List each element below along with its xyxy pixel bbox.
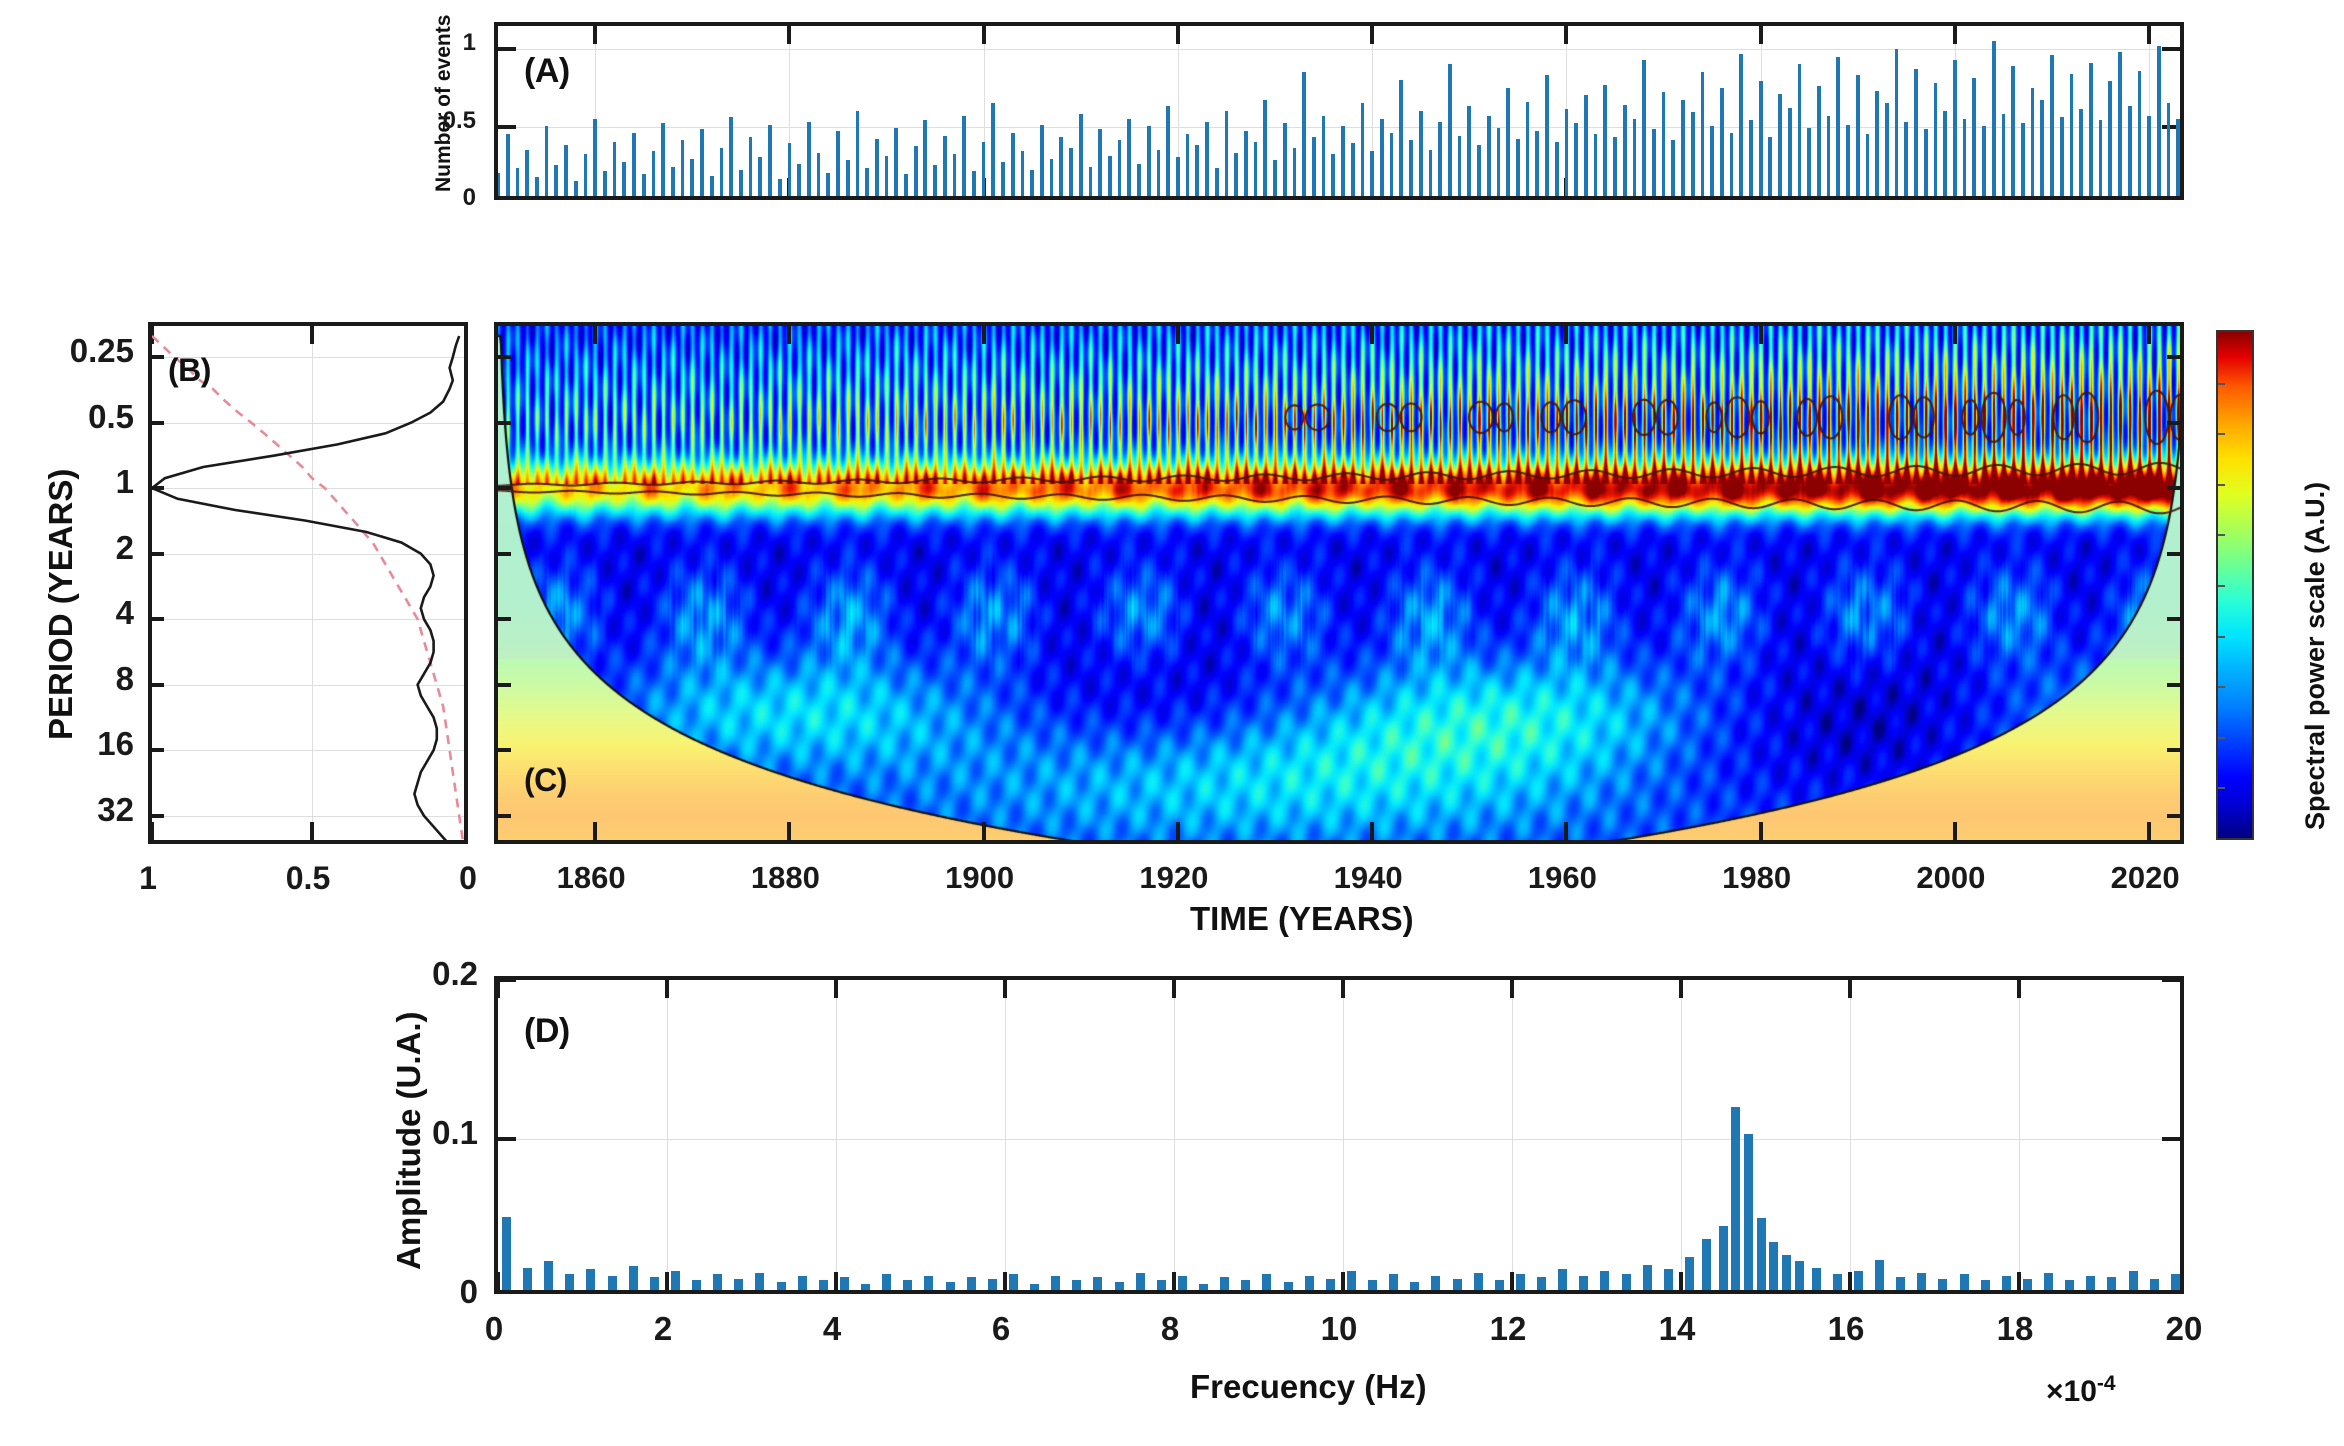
panel-a-bar	[1710, 126, 1714, 196]
panel-a-bar	[807, 122, 811, 196]
panel-a-bar	[1399, 80, 1403, 196]
panel-a-bar	[1312, 137, 1316, 196]
panel-d-bar	[1719, 1226, 1728, 1290]
panel-d-bar	[1326, 1279, 1335, 1290]
panel-a-bar	[1361, 103, 1365, 196]
panel-d-gridline	[1681, 980, 1682, 1290]
panel-a-bar	[1701, 72, 1705, 196]
panel-a-bar	[1652, 129, 1656, 196]
panel-a-bar	[1497, 128, 1501, 196]
panel-d-bar	[2171, 1274, 2180, 1290]
panel-d-ytick-label: 0.2	[432, 955, 478, 993]
panel-a-bar	[1836, 57, 1840, 196]
panel-d-tick-bottom	[2017, 1272, 2021, 1290]
panel-d-bar	[1136, 1273, 1145, 1290]
panel-a-bar	[1972, 78, 1976, 196]
panel-a-bar	[817, 153, 821, 196]
panel-a-bar	[613, 142, 617, 196]
panel-d-bar	[2044, 1273, 2053, 1290]
panel-a-bar	[1555, 142, 1559, 196]
panel-b-spectrum-line	[152, 336, 459, 840]
panel-c-tick-left	[498, 748, 511, 752]
panel-d-bar	[2023, 1279, 2032, 1290]
panel-a-tick-top	[1759, 26, 1763, 44]
panel-c-tick-top	[787, 326, 791, 344]
panel-c-tick-top	[1953, 326, 1957, 344]
panel-a-bar	[778, 179, 782, 196]
panel-a-bar	[1662, 92, 1666, 196]
panel-a-bar	[1603, 85, 1607, 196]
panel-c-xlabel: TIME (YEARS)	[1190, 900, 1414, 938]
panel-a-ytick-label: 1	[463, 29, 476, 57]
panel-c-xtick-label: 1880	[751, 860, 820, 896]
panel-a-bar	[1856, 75, 1860, 196]
exponent-power: -4	[2097, 1372, 2116, 1395]
panel-d-bar	[1664, 1269, 1673, 1290]
panel-b-plot-area	[152, 326, 464, 840]
panel-c-tick-bottom	[593, 822, 597, 840]
panel-d-bar	[2129, 1271, 2138, 1290]
panel-d-bar	[1769, 1242, 1778, 1290]
panel-a-bar	[1409, 140, 1413, 196]
panel-d-tick-top	[1848, 980, 1852, 998]
panel-a-bar	[1720, 88, 1724, 196]
panel-a-bar	[710, 176, 714, 196]
panel-b-ylabel: PERIOD (YEARS)	[42, 469, 80, 740]
panel-d-xtick-label: 10	[1321, 1310, 1358, 1348]
panel-d-tick-bottom	[834, 1272, 838, 1290]
panel-a-bar	[1788, 108, 1792, 196]
panel-c-label: (C)	[524, 762, 567, 799]
panel-a-tick-top	[2147, 26, 2151, 44]
panel-a-bar	[661, 123, 665, 196]
panel-d-xtick-label: 4	[823, 1310, 841, 1348]
panel-d-bar	[2065, 1280, 2074, 1290]
panel-a-tick-top	[1176, 26, 1180, 44]
panel-c-xtick-label: 1900	[945, 860, 1014, 896]
panel-a-bar	[982, 142, 986, 196]
panel-a-bar	[1768, 137, 1772, 196]
panel-b-ytick-label: 1	[116, 463, 134, 501]
panel-a-ytick-label: 0.5	[443, 107, 476, 135]
panel-a-bar	[1021, 151, 1025, 196]
panel-a-bar	[875, 139, 879, 196]
panel-c-tick-top	[593, 326, 597, 344]
panel-d-gridline	[667, 980, 668, 1290]
panel-a-bar	[1739, 54, 1743, 196]
panel-a-bar	[632, 133, 636, 196]
panel-a-ytick-label: 0	[463, 184, 476, 212]
panel-d-bar	[1685, 1257, 1694, 1290]
panel-b-ytick-label: 2	[116, 529, 134, 567]
panel-a-bar	[1127, 119, 1131, 196]
panel-d-bar	[1960, 1274, 1969, 1290]
panel-b-xtick-label: 0	[459, 860, 477, 897]
panel-a-bar	[720, 148, 724, 196]
panel-d-tick-bottom	[1510, 1272, 1514, 1290]
panel-a-bar	[2176, 119, 2180, 196]
panel-b-axes	[148, 322, 468, 844]
panel-a-bar	[1351, 143, 1355, 196]
panel-d-tick-top	[1003, 980, 1007, 998]
panel-c-tick-right	[2167, 814, 2180, 818]
panel-a-bar	[1040, 125, 1044, 196]
panel-d-bar	[1537, 1277, 1546, 1290]
panel-a-bar	[1429, 150, 1433, 196]
panel-a-bar	[1225, 111, 1229, 196]
panel-a-bar	[1924, 129, 1928, 196]
panel-a-bar	[962, 116, 966, 196]
panel-a-tick-top	[1953, 26, 1957, 44]
panel-a-tick-top	[1564, 26, 1568, 44]
panel-d-gridline	[1512, 980, 1513, 1290]
panel-d-bar	[1199, 1284, 1208, 1290]
panel-d-bar	[1558, 1269, 1567, 1290]
panel-a-bar	[894, 128, 898, 196]
panel-a-bar	[1817, 86, 1821, 196]
panel-a-bar	[1186, 134, 1190, 196]
panel-d-bar	[1474, 1273, 1483, 1290]
panel-d-bar	[798, 1276, 807, 1290]
panel-d-bar	[1284, 1282, 1293, 1290]
panel-a-tick-right	[2162, 47, 2180, 51]
panel-c-xtick-label: 2000	[1916, 860, 1985, 896]
colorbar-tick	[2218, 636, 2225, 638]
panel-a-bar	[2099, 120, 2103, 196]
panel-a-bar	[1633, 119, 1637, 196]
panel-d-bar	[946, 1282, 955, 1290]
colorbar-tick	[2218, 787, 2225, 789]
panel-d-tick-right	[2162, 1137, 2180, 1141]
panel-d-bar	[1030, 1284, 1039, 1290]
panel-a-bar	[1176, 157, 1180, 196]
panel-d-bar	[1305, 1276, 1314, 1290]
panel-d-bar	[840, 1277, 849, 1290]
panel-a-bar	[1448, 64, 1452, 196]
panel-d-bar	[650, 1277, 659, 1290]
panel-a-bar	[972, 171, 976, 196]
panel-a-tick-top	[787, 26, 791, 44]
panel-c-tick-bottom	[787, 822, 791, 840]
panel-a-bar	[525, 150, 529, 196]
panel-a-bar	[836, 131, 840, 196]
panel-a-bar	[1157, 150, 1161, 196]
panel-a-bar	[2021, 123, 2025, 196]
panel-d-bar	[608, 1276, 617, 1290]
panel-a-bar	[1487, 116, 1491, 196]
panel-a-gridline	[498, 127, 2180, 128]
panel-a-bar	[1749, 120, 1753, 196]
panel-a-bar	[1953, 60, 1957, 196]
panel-a-bar	[1613, 137, 1617, 196]
panel-d-bar	[1389, 1274, 1398, 1290]
panel-a-bar	[943, 136, 947, 196]
panel-c-xtick-label: 1860	[557, 860, 626, 896]
panel-d-bar	[1453, 1279, 1462, 1290]
panel-a-bar	[1671, 140, 1675, 196]
panel-d-bar	[1896, 1277, 1905, 1290]
panel-d-bar	[1917, 1273, 1926, 1290]
panel-a-bar	[1681, 100, 1685, 196]
panel-c-tick-right	[2167, 748, 2180, 752]
panel-c-tick-left	[498, 814, 511, 818]
panel-a-bar	[729, 117, 733, 196]
panel-a-bar	[1477, 145, 1481, 196]
panel-d-bar	[1702, 1239, 1711, 1290]
panel-d-xtick-label: 8	[1161, 1310, 1179, 1348]
panel-d-tick-top	[498, 980, 500, 998]
panel-c-tick-bottom	[2147, 822, 2151, 840]
panel-d-tick-top	[1510, 980, 1514, 998]
panel-a-bar	[1001, 162, 1005, 196]
panel-a-bar	[1458, 136, 1462, 196]
panel-c-tick-top	[1176, 326, 1180, 344]
panel-a-bar	[1030, 170, 1034, 196]
panel-d-tick-top	[1172, 980, 1176, 998]
panel-d-xtick-label: 2	[654, 1310, 672, 1348]
panel-d-bar	[967, 1277, 976, 1290]
panel-a-bar	[1089, 167, 1093, 196]
panel-a-bar	[1273, 160, 1277, 196]
panel-d-bar	[734, 1279, 743, 1290]
panel-d-gridline	[1850, 980, 1851, 1290]
panel-a-bar	[690, 159, 694, 196]
panel-d-xtick-label: 16	[1828, 1310, 1865, 1348]
panel-a-bar	[1934, 83, 1938, 196]
panel-a-bar	[1914, 69, 1918, 196]
panel-d-bar	[1410, 1282, 1419, 1290]
panel-d-bar	[1812, 1268, 1821, 1290]
panel-d-bar	[1744, 1134, 1753, 1290]
panel-d-tick-bottom	[1341, 1272, 1345, 1290]
panel-d-bar	[1643, 1265, 1652, 1290]
panel-a-bar	[1302, 72, 1306, 196]
panel-a-bar	[564, 145, 568, 196]
panel-c-tick-top	[1564, 326, 1568, 344]
panel-a-bar	[2128, 106, 2132, 196]
panel-c-tick-bottom	[1176, 822, 1180, 840]
panel-d-bar	[1938, 1279, 1947, 1290]
panel-a-bar	[2089, 63, 2093, 196]
exponent-base: ×10	[2046, 1375, 2097, 1408]
panel-a-bar	[1341, 126, 1345, 196]
panel-d-bar	[1157, 1280, 1166, 1290]
panel-a-bar	[1516, 139, 1520, 196]
panel-a-bar	[2050, 55, 2054, 196]
panel-d-bar	[1009, 1274, 1018, 1290]
panel-d-tick-bottom	[1003, 1272, 1007, 1290]
panel-d-ytick-label: 0.1	[432, 1114, 478, 1152]
colorbar-tick	[2218, 534, 2225, 536]
panel-a-bar	[516, 168, 520, 196]
panel-d-ylabel: Amplitude (U.A.)	[390, 1012, 428, 1270]
panel-a-bar	[2138, 71, 2142, 196]
panel-a-bar	[681, 140, 685, 196]
panel-c-tick-bottom	[1759, 822, 1763, 840]
panel-a-bar	[788, 143, 792, 196]
panel-d-tick-top	[1341, 980, 1345, 998]
panel-a-bar	[1759, 81, 1763, 196]
panel-d-bar	[1757, 1218, 1766, 1290]
panel-a-bar	[1438, 122, 1442, 196]
panel-d-bar	[777, 1282, 786, 1290]
panel-d-bar	[1875, 1260, 1884, 1290]
panel-d-plot-area	[498, 980, 2180, 1290]
panel-a-bar	[1254, 142, 1258, 196]
panel-d-bar	[1516, 1274, 1525, 1290]
panel-b-ytick-label: 16	[97, 725, 134, 763]
panel-c-tick-left	[498, 552, 511, 556]
panel-a-gridline	[498, 49, 2180, 50]
panel-d-label: (D)	[524, 1012, 570, 1051]
panel-a-bar	[1895, 49, 1899, 196]
panel-d-bar	[586, 1269, 595, 1290]
panel-d-bar	[924, 1276, 933, 1290]
panel-c-tick-right	[2167, 421, 2180, 425]
panel-d-bar	[523, 1268, 532, 1290]
panel-d-bar	[692, 1280, 701, 1290]
panel-a-bar	[1565, 109, 1569, 196]
panel-a-bar	[1234, 153, 1238, 196]
panel-d-tick-bottom	[665, 1272, 669, 1290]
panel-d-xtick-label: 14	[1659, 1310, 1696, 1348]
panel-d-bar	[2150, 1279, 2159, 1290]
panel-a-bar	[2079, 109, 2083, 196]
panel-a-bar	[1283, 123, 1287, 196]
panel-d-xtick-label: 18	[1997, 1310, 2034, 1348]
panel-d-bar	[671, 1271, 680, 1290]
panel-a-bar	[991, 103, 995, 196]
panel-b-curves	[152, 326, 464, 840]
panel-a-bar	[1623, 105, 1627, 196]
panel-d-bar	[713, 1274, 722, 1290]
panel-a-bar	[797, 164, 801, 197]
panel-d-tick-left	[498, 980, 516, 982]
panel-c-tick-right	[2167, 486, 2180, 490]
panel-d-xlabel: Frecuency (Hz)	[1190, 1368, 1427, 1406]
panel-c-xtick-label: 1920	[1139, 860, 1208, 896]
panel-d-tick-top	[665, 980, 669, 998]
panel-a-bar	[1069, 148, 1073, 196]
panel-c-xtick-label: 1980	[1722, 860, 1791, 896]
panel-a-bar	[506, 134, 510, 196]
panel-d-tick-top	[2017, 980, 2021, 998]
panel-a-bar	[904, 174, 908, 196]
panel-a-bar	[2002, 114, 2006, 196]
panel-a-bar	[2167, 103, 2171, 196]
panel-c-tick-left	[498, 486, 511, 490]
panel-b-label: (B)	[168, 352, 211, 389]
panel-d-bar	[1731, 1107, 1740, 1290]
panel-a-bar	[1798, 64, 1802, 196]
panel-a-bar	[642, 174, 646, 196]
panel-a-bar	[846, 160, 850, 196]
panel-a-bar	[739, 170, 743, 196]
panel-d-bar	[1368, 1280, 1377, 1290]
panel-c-tick-bottom	[1953, 822, 1957, 840]
panel-a-bar	[1098, 129, 1102, 196]
panel-c-tick-top	[982, 326, 986, 344]
panel-d-bar	[1622, 1274, 1631, 1290]
panel-d-tick-top	[1679, 980, 1683, 998]
panel-a-bar	[1574, 123, 1578, 196]
panel-d-bar	[1854, 1271, 1863, 1290]
panel-a-bar	[2031, 88, 2035, 196]
colorbar	[2216, 330, 2254, 840]
panel-b-ytick-label: 0.25	[70, 332, 134, 370]
panel-c-tick-bottom	[982, 822, 986, 840]
panel-a-bar	[749, 137, 753, 196]
panel-a-bar	[1594, 134, 1598, 196]
panel-a-bar	[923, 120, 927, 196]
panel-c-tick-top	[1759, 326, 1763, 344]
panel-d-tick-bottom	[498, 1272, 500, 1290]
panel-b-ytick-label: 4	[116, 594, 134, 632]
panel-d-bar	[755, 1273, 764, 1290]
panel-a-bar	[1866, 134, 1870, 196]
panel-a-bar	[768, 125, 772, 196]
panel-a-bar	[1244, 131, 1248, 196]
panel-c-tick-right	[2167, 617, 2180, 621]
panel-a-bar	[1943, 111, 1947, 196]
panel-a-bar	[1215, 168, 1219, 196]
wavelet-analysis-figure: (A) Number of events (B) PERIOD (YEARS) …	[0, 0, 2344, 1446]
panel-a-bar	[498, 173, 500, 196]
panel-a-bar	[1506, 88, 1510, 196]
panel-d-bar	[1431, 1276, 1440, 1290]
panel-d-tick-bottom	[1848, 1272, 1852, 1290]
panel-d-ytick-label: 0	[460, 1273, 478, 1311]
panel-a-bar	[1730, 133, 1734, 196]
panel-d-gridline	[498, 1139, 2180, 1140]
panel-a-bar	[1011, 133, 1015, 196]
panel-a-bar	[593, 119, 597, 196]
panel-d-bar	[988, 1279, 997, 1290]
panel-b-ytick-label: 8	[116, 660, 134, 698]
panel-a-bar	[671, 167, 675, 196]
panel-d-gridline	[1174, 980, 1175, 1290]
panel-a-bar	[1584, 95, 1588, 196]
panel-c-tick-top	[2147, 326, 2151, 344]
panel-d-tick-bottom	[1172, 1272, 1176, 1290]
panel-a-axes	[494, 22, 2184, 200]
panel-a-bar	[1467, 106, 1471, 196]
panel-a-bar	[1322, 116, 1326, 196]
panel-a-bar	[758, 157, 762, 196]
panel-a-bar	[1370, 151, 1374, 196]
panel-a-bar	[865, 168, 869, 196]
panel-a-bar	[603, 171, 607, 196]
panel-a-bar	[856, 111, 860, 196]
panel-c-tick-right	[2167, 355, 2180, 359]
panel-d-tick-right	[2162, 980, 2180, 982]
panel-a-label: (A)	[524, 52, 570, 91]
panel-b-ytick-label: 32	[97, 791, 134, 829]
panel-d-bar	[1795, 1261, 1804, 1290]
panel-a-bar	[1885, 103, 1889, 196]
panel-a-tick-top	[1370, 26, 1374, 44]
panel-c-tick-right	[2167, 552, 2180, 556]
panel-a-bar	[574, 181, 578, 196]
panel-a-bar	[1118, 140, 1122, 196]
panel-a-bar	[2147, 116, 2151, 196]
panel-a-bar	[1137, 164, 1141, 197]
panel-a-bar	[2040, 100, 2044, 196]
panel-b-xtick-label: 0.5	[286, 860, 330, 897]
panel-a-bar	[914, 146, 918, 196]
panel-d-gridline	[1005, 980, 1006, 1290]
panel-c-plot-area	[498, 326, 2180, 840]
